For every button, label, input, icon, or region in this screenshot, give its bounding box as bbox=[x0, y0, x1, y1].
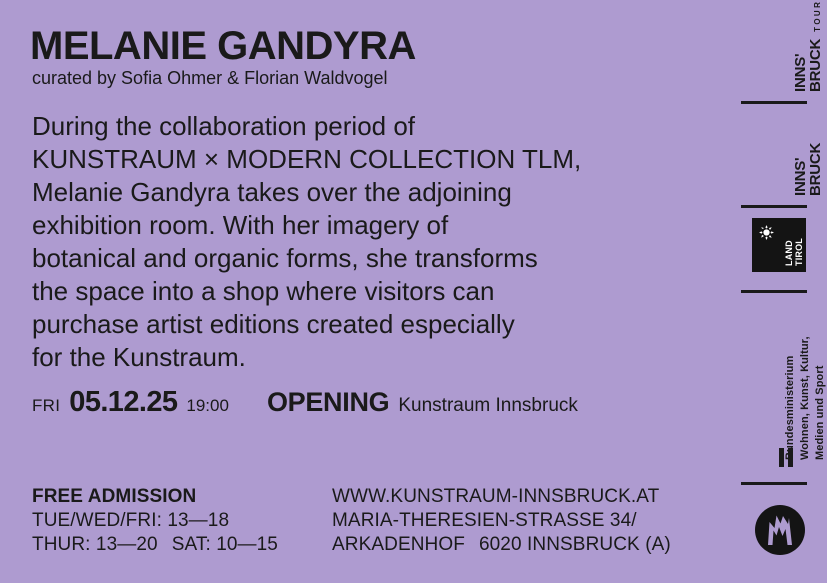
hours-saturday: SAT: 10—15 bbox=[172, 534, 278, 555]
address-city: 6020 INNSBRUCK (A) bbox=[479, 534, 671, 555]
land-tirol-label: LAND TIROL bbox=[784, 238, 804, 266]
description-line: botanical and organic forms, she transfo… bbox=[32, 242, 712, 275]
footer-hours-column: FREE ADMISSION TUE/WED/FRI: 13—18 THUR: … bbox=[32, 485, 332, 557]
logo-land-tirol: LAND TIROL bbox=[752, 218, 806, 272]
main-content: MELANIE GANDYRA curated by Sofia Ohmer &… bbox=[30, 0, 720, 583]
flag-bar bbox=[788, 448, 793, 467]
wordmark-line-2: BRUCK bbox=[807, 143, 824, 196]
description-text: During the collaboration period of KUNST… bbox=[32, 110, 712, 374]
address-line-1: MARIA-THERESIEN-STRASSE 34/ bbox=[332, 509, 692, 533]
sidebar-divider bbox=[741, 290, 807, 293]
hours-line-2: THUR: 13—20SAT: 10—15 bbox=[32, 533, 332, 557]
event-time: 19:00 bbox=[186, 396, 229, 416]
description-line: purchase artist editions created especia… bbox=[32, 308, 712, 341]
tirol-eagle-icon bbox=[758, 224, 775, 241]
website-url[interactable]: WWW.KUNSTRAUM-INNSBRUCK.AT bbox=[332, 485, 692, 509]
footer: FREE ADMISSION TUE/WED/FRI: 13—18 THUR: … bbox=[32, 485, 712, 557]
ministry-line-2: Wohnen, Kunst, Kultur, bbox=[799, 336, 811, 460]
land-tirol-line-2: TIROL bbox=[794, 238, 804, 266]
logo-innsbruck: INNS' BRUCK bbox=[793, 143, 823, 196]
logo-kunstraum-mark bbox=[755, 505, 805, 555]
page-title: MELANIE GANDYRA bbox=[30, 26, 416, 66]
wordmark-line-2: BRUCK bbox=[807, 39, 824, 92]
logo-bundesministerium: Bundesministerium Wohnen, Kunst, Kultur,… bbox=[783, 336, 827, 460]
sidebar-divider bbox=[741, 482, 807, 485]
address-line-2: ARKADENHOF6020 INNSBRUCK (A) bbox=[332, 533, 692, 557]
description-line: KUNSTRAUM × MODERN COLLECTION TLM, bbox=[32, 143, 712, 176]
footer-contact-column: WWW.KUNSTRAUM-INNSBRUCK.AT MARIA-THERESI… bbox=[332, 485, 692, 557]
austria-flag-icon bbox=[779, 448, 795, 467]
hours-thursday: THUR: 13—20 bbox=[32, 534, 158, 555]
ministry-line-1: Bundesministerium bbox=[784, 356, 796, 460]
flag-bar bbox=[779, 448, 784, 467]
address-building: ARKADENHOF bbox=[332, 534, 465, 555]
innsbruck-wordmark: INNS' BRUCK bbox=[793, 143, 823, 196]
description-line: the space into a shop where visitors can bbox=[32, 275, 712, 308]
mountain-m-icon bbox=[755, 505, 805, 555]
event-venue: Kunstraum Innsbruck bbox=[398, 395, 578, 417]
description-line: exhibition room. With her imagery of bbox=[32, 209, 712, 242]
description-line: During the collaboration period of bbox=[32, 110, 712, 143]
curator-credit: curated by Sofia Ohmer & Florian Waldvog… bbox=[32, 69, 388, 87]
description-line: Melanie Gandyra takes over the adjoining bbox=[32, 176, 712, 209]
event-date: 05.12.25 bbox=[69, 386, 177, 419]
event-date-line: FRI 05.12.25 19:00 OPENING Kunstraum Inn… bbox=[32, 386, 578, 419]
sponsor-sidebar: INNS' BRUCK TOURISMUS INNS' BRUCK bbox=[735, 0, 827, 583]
logo-innsbruck-tourismus: INNS' BRUCK TOURISMUS bbox=[793, 0, 823, 92]
sidebar-divider bbox=[741, 205, 807, 208]
hours-line-1: TUE/WED/FRI: 13—18 bbox=[32, 509, 332, 533]
poster-canvas: MELANIE GANDYRA curated by Sofia Ohmer &… bbox=[0, 0, 827, 583]
description-line: for the Kunstraum. bbox=[32, 341, 712, 374]
innsbruck-tourismus-wordmark: INNS' BRUCK bbox=[793, 39, 823, 92]
ministry-line-3: Medien und Sport bbox=[814, 366, 826, 460]
tourismus-label: TOURISMUS bbox=[813, 0, 823, 32]
admission-label: FREE ADMISSION bbox=[32, 485, 332, 509]
land-tirol-line-1: LAND bbox=[784, 240, 794, 266]
event-label: OPENING bbox=[267, 387, 389, 418]
event-weekday: FRI bbox=[32, 396, 60, 416]
sidebar-divider bbox=[741, 101, 807, 104]
